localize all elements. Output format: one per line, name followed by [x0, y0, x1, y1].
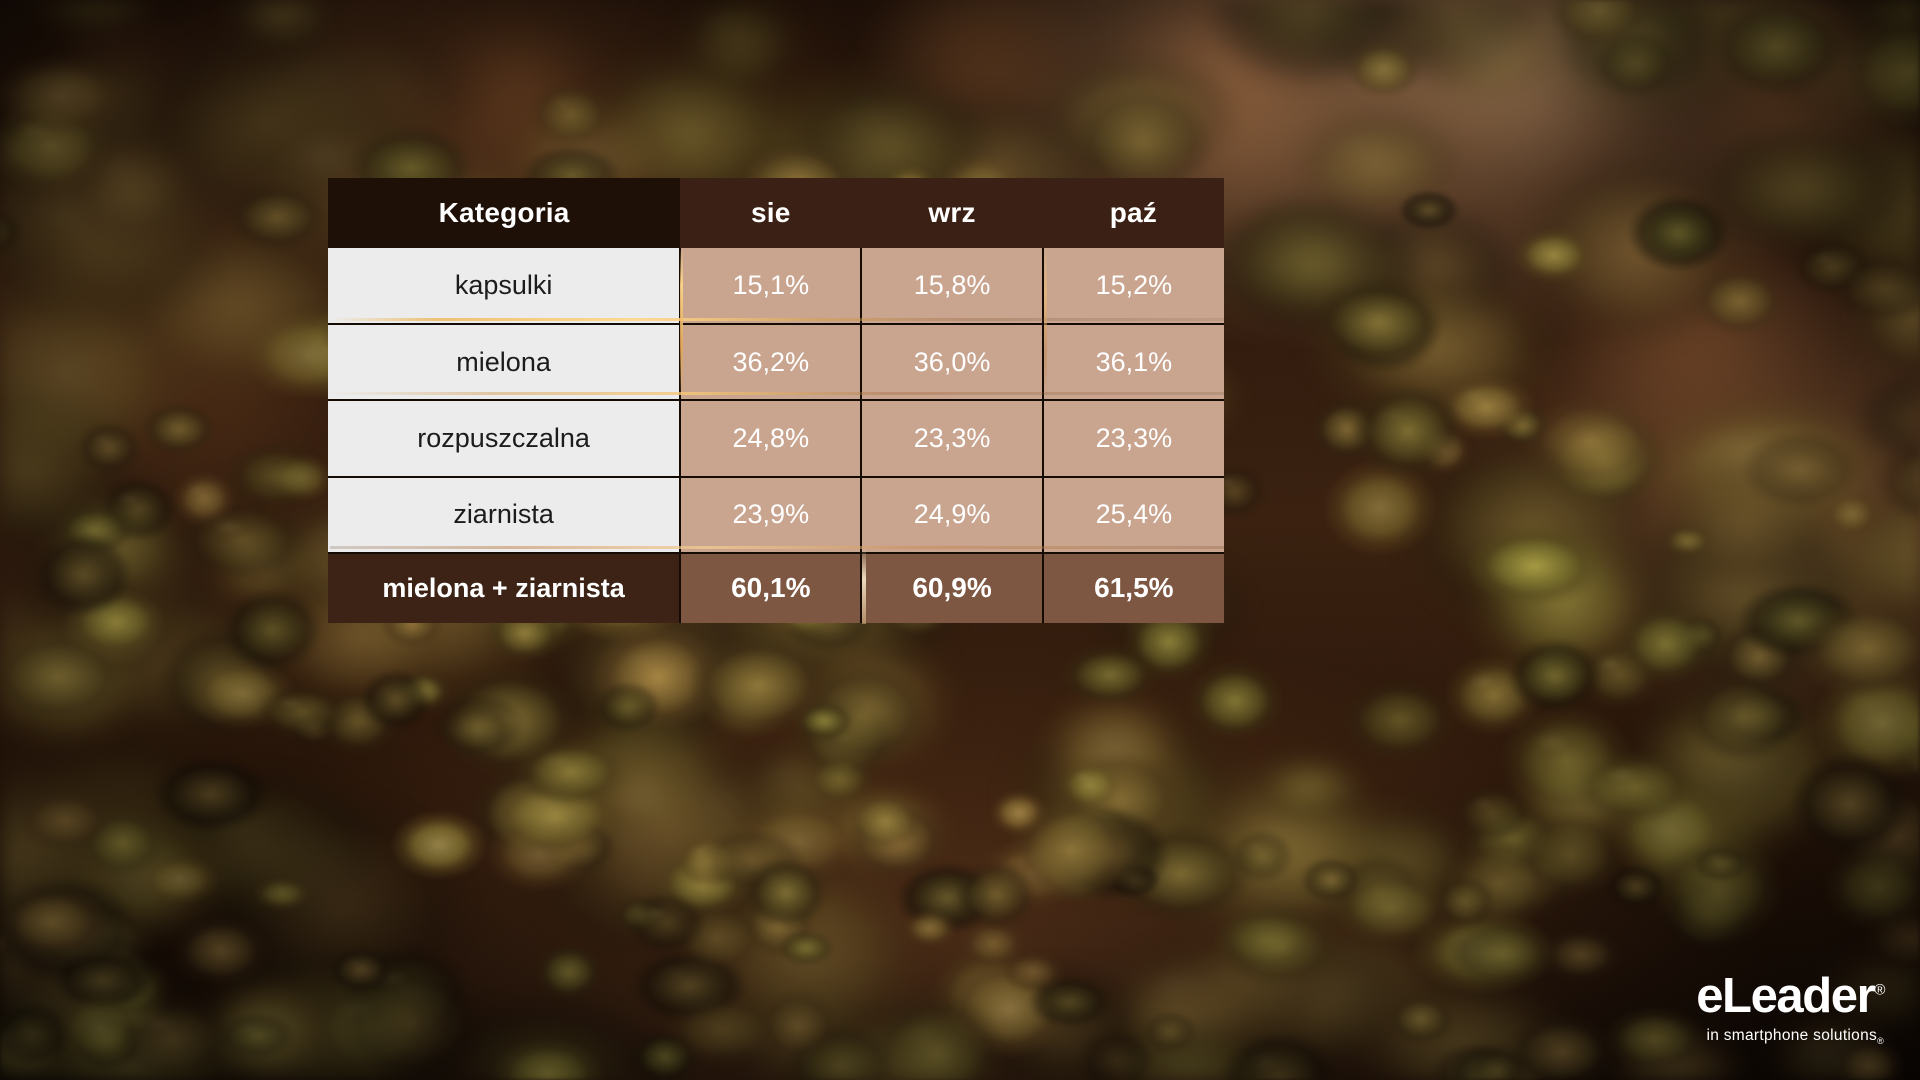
cell-value-wrz: 15,8% [861, 248, 1042, 324]
logo-word-leader: Leader [1722, 969, 1874, 1023]
table-row: kapsulki 15,1% 15,8% 15,2% [328, 248, 1224, 324]
cell-total-label: mielona + ziarnista [328, 553, 680, 623]
logo-tagline: in smartphone solutions® [1696, 1028, 1884, 1046]
logo-wordmark: eLeader® [1696, 972, 1884, 1021]
cell-category: mielona [328, 324, 680, 400]
logo-tagline-text: in smartphone solutions [1706, 1027, 1877, 1044]
eleader-logo: eLeader® in smartphone solutions® [1696, 972, 1884, 1046]
cell-value-wrz: 24,9% [861, 477, 1042, 553]
cell-category: kapsulki [328, 248, 680, 324]
cell-value-paz: 15,2% [1043, 248, 1224, 324]
cell-value-paz: 36,1% [1043, 324, 1224, 400]
cell-total-paz: 61,5% [1043, 553, 1224, 623]
table-row: rozpuszczalna 24,8% 23,3% 23,3% [328, 400, 1224, 476]
data-table-container: Kategoria sie wrz paź kapsulki 15,1% 15,… [328, 178, 1224, 623]
table-body: kapsulki 15,1% 15,8% 15,2% mielona 36,2%… [328, 248, 1224, 623]
table-row: mielona 36,2% 36,0% 36,1% [328, 324, 1224, 400]
column-header-sie: sie [680, 178, 861, 248]
cell-value-sie: 23,9% [680, 477, 861, 553]
column-header-kategoria: Kategoria [328, 178, 680, 248]
registered-mark-icon: ® [1874, 982, 1884, 999]
table-total-row: mielona + ziarnista 60,1% 60,9% 61,5% [328, 553, 1224, 623]
cell-category: rozpuszczalna [328, 400, 680, 476]
cell-value-wrz: 36,0% [861, 324, 1042, 400]
cell-value-sie: 36,2% [680, 324, 861, 400]
cell-value-wrz: 23,3% [861, 400, 1042, 476]
cell-value-paz: 23,3% [1043, 400, 1224, 476]
coffee-category-share-table: Kategoria sie wrz paź kapsulki 15,1% 15,… [328, 178, 1224, 623]
cell-value-paz: 25,4% [1043, 477, 1224, 553]
header-row: Kategoria sie wrz paź [328, 178, 1224, 248]
cell-total-wrz: 60,9% [861, 553, 1042, 623]
table-row: ziarnista 23,9% 24,9% 25,4% [328, 477, 1224, 553]
cell-total-sie: 60,1% [680, 553, 861, 623]
tagline-registered-mark-icon: ® [1877, 1036, 1884, 1046]
column-header-wrz: wrz [861, 178, 1042, 248]
logo-letter-e: e [1696, 969, 1722, 1023]
cell-value-sie: 15,1% [680, 248, 861, 324]
table-header: Kategoria sie wrz paź [328, 178, 1224, 248]
column-header-paz: paź [1043, 178, 1224, 248]
cell-value-sie: 24,8% [680, 400, 861, 476]
cell-category: ziarnista [328, 477, 680, 553]
